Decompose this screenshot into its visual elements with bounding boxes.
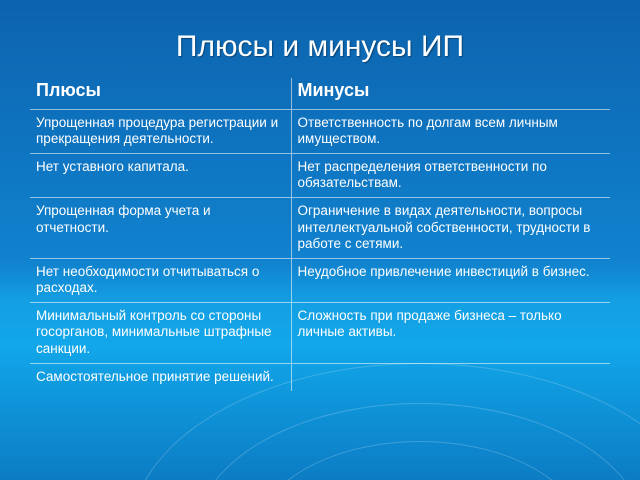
cell-pros: Упрощенная процедура регистрации и прекр… xyxy=(30,109,291,153)
table-container: Плюсы Минусы Упрощенная процедура регист… xyxy=(30,78,610,391)
table-row: Минимальный контроль со стороны госорган… xyxy=(30,303,610,364)
table-row: Упрощенная процедура регистрации и прекр… xyxy=(30,109,610,153)
table-row: Самостоятельное принятие решений. xyxy=(30,363,610,391)
cell-pros: Нет необходимости отчитываться о расхода… xyxy=(30,258,291,302)
ripple-ring xyxy=(194,403,640,480)
cell-pros: Минимальный контроль со стороны госорган… xyxy=(30,303,291,364)
table-row: Нет необходимости отчитываться о расхода… xyxy=(30,258,610,302)
cell-pros: Нет уставного капитала. xyxy=(30,153,291,197)
cell-cons: Ограничение в видах деятельности, вопрос… xyxy=(291,198,610,259)
cell-cons: Ответственность по долгам всем личным им… xyxy=(291,109,610,153)
cell-pros: Упрощенная форма учета и отчетности. xyxy=(30,198,291,259)
slide-title: Плюсы и минусы ИП xyxy=(0,0,640,64)
table-row: Нет уставного капитала. Нет распределени… xyxy=(30,153,610,197)
cell-cons: Сложность при продаже бизнеса – только л… xyxy=(291,303,610,364)
column-header-cons: Минусы xyxy=(291,78,610,109)
pros-cons-table: Плюсы Минусы Упрощенная процедура регист… xyxy=(30,78,610,391)
table-header-row: Плюсы Минусы xyxy=(30,78,610,109)
cell-cons xyxy=(291,363,610,391)
cell-cons: Нет распределения ответственности по обя… xyxy=(291,153,610,197)
column-header-pros: Плюсы xyxy=(30,78,291,109)
slide: Плюсы и минусы ИП Плюсы Минусы Упрощенна… xyxy=(0,0,640,480)
cell-cons: Неудобное привлечение инвестиций в бизне… xyxy=(291,258,610,302)
ripple-ring xyxy=(254,441,586,480)
cell-pros: Самостоятельное принятие решений. xyxy=(30,363,291,391)
table-row: Упрощенная форма учета и отчетности. Огр… xyxy=(30,198,610,259)
